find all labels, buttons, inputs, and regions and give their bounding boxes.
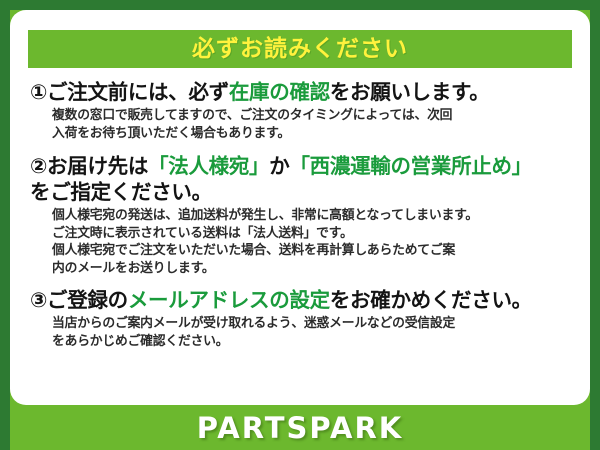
notice-item-2-heading: ②お届け先は「法人様宛」か「西濃運輸の営業所止め」 [30,153,570,179]
title-text: 必ずお読みください [192,38,408,61]
body-line: 内のメールをお送りします。 [52,260,570,277]
notice-item-3-body: 当店からのご案内メールが受け取れるよう、迷惑メールなどの受信設定 をあらかじめご… [52,315,570,350]
heading-part-accent: 「西濃運輸の営業所止め」 [289,154,531,178]
notice-item-1: ①ご注文前には、必ず在庫の確認をお願いします。 複数の窓口で販売してますので、ご… [30,79,570,142]
notice-item-2-body: 個人様宅宛の発送は、追加送料が発生し、非常に高額となってしまいます。 ご注文時に… [52,207,570,277]
body-line: 個人様宅宛でご注文をいただいた場合、送料を再計算しあらためてご案 [52,242,570,259]
notice-item-1-body: 複数の窓口で販売してますので、ご注文のタイミングによっては、次回 入荷をお待ち頂… [52,107,570,142]
notice-item-3: ③ご登録のメールアドレスの設定をお確かめください。 当店からのご案内メールが受け… [30,287,570,350]
title-bar: 必ずお読みください [28,30,572,68]
notice-item-3-heading: ③ご登録のメールアドレスの設定をお確かめください。 [30,287,570,313]
heading-part: ②お届け先は [30,154,148,178]
body-line: ご注文時に表示されている送料は「法人送料」です。 [52,225,570,242]
body-line: 複数の窓口で販売してますので、ご注文のタイミングによっては、次回 [52,107,570,124]
notice-items: ①ご注文前には、必ず在庫の確認をお願いします。 複数の窓口で販売してますので、ご… [28,79,572,350]
body-line: 入荷をお待ち頂いただく場合もあります。 [52,125,570,142]
footer-band: PARTSPARK [10,405,590,450]
notice-item-2: ②お届け先は「法人様宛」か「西濃運輸の営業所止め」 をご指定ください。 個人様宅… [30,153,570,277]
notice-item-1-heading: ①ご注文前には、必ず在庫の確認をお願いします。 [30,79,570,105]
heading-part-accent: 「法人様宛」 [148,154,269,178]
heading-part-accent: 在庫の確認 [229,80,330,104]
heading-part: ①ご注文前には、必ず [30,80,229,104]
content-panel: 必ずお読みください ①ご注文前には、必ず在庫の確認をお願いします。 複数の窓口で… [10,10,590,405]
notice-item-2-heading-line2: をご指定ください。 [30,179,570,205]
heading-part: ③ご登録の [30,288,128,312]
notice-banner: 必ずお読みください ①ご注文前には、必ず在庫の確認をお願いします。 複数の窓口で… [0,0,600,450]
heading-part: か [269,154,289,178]
body-line: をあらかじめご確認ください。 [52,333,570,350]
body-line: 個人様宅宛の発送は、追加送料が発生し、非常に高額となってしまいます。 [52,207,570,224]
brand-name: PARTSPARK [197,411,404,445]
heading-part-accent: メールアドレスの設定 [128,288,330,312]
body-line: 当店からのご案内メールが受け取れるよう、迷惑メールなどの受信設定 [52,315,570,332]
heading-part: をお確かめください。 [330,288,532,312]
heading-part: をお願いします。 [330,80,490,104]
